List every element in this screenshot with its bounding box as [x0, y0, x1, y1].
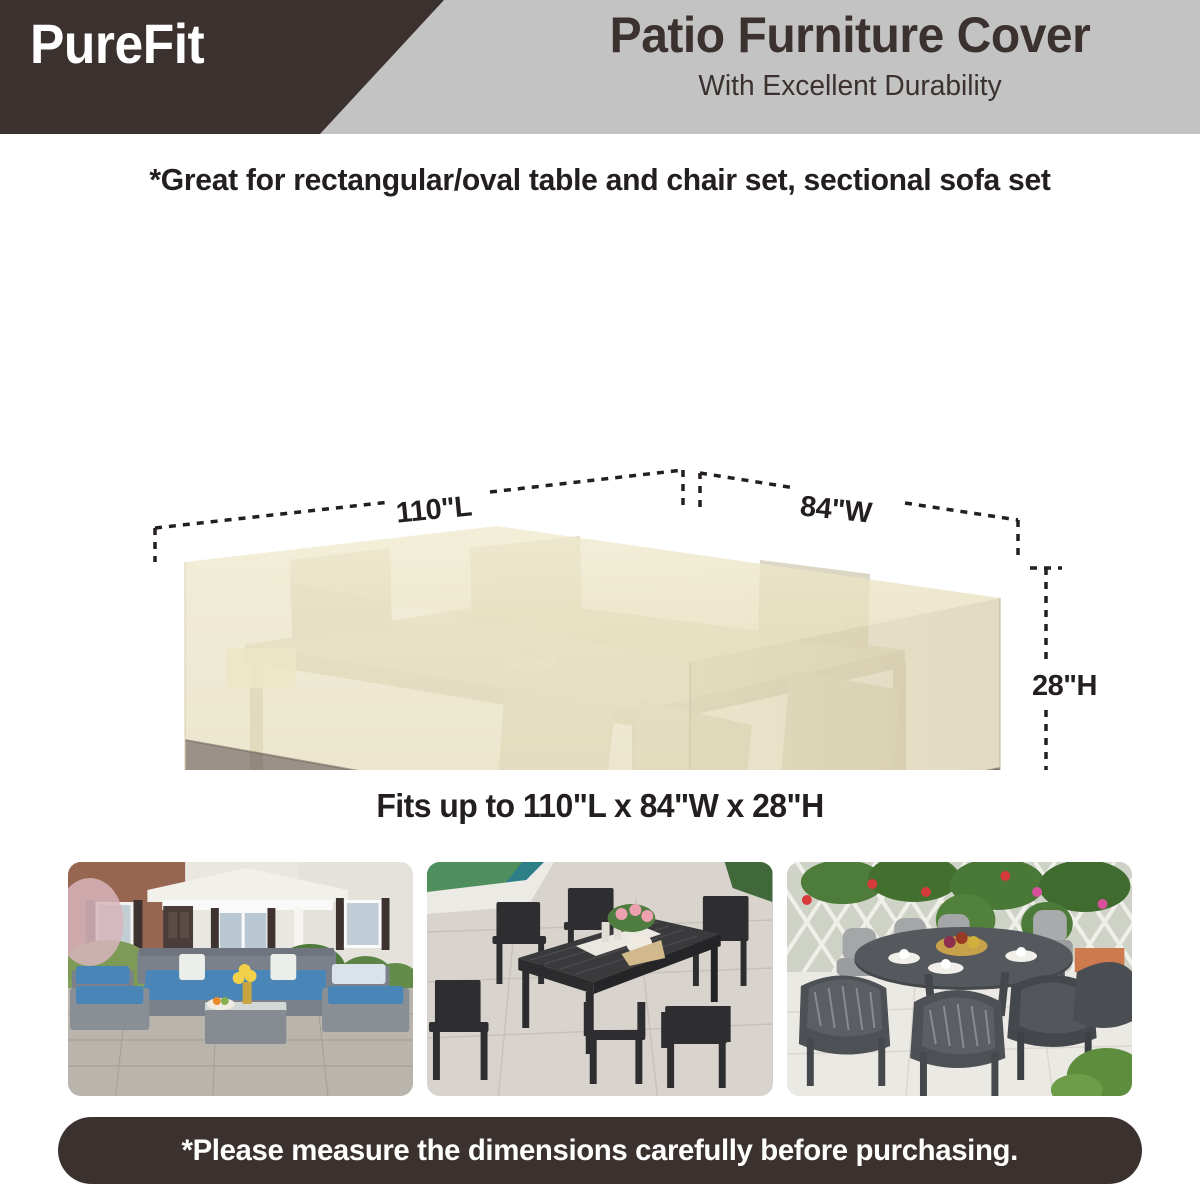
photo-strip: [68, 862, 1132, 1096]
dimension-label-height: 28"H: [1032, 670, 1097, 703]
page-subtitle: With Excellent Durability: [520, 68, 1180, 106]
photo-oval-dining-set: [787, 862, 1132, 1096]
product-infographic: PureFit Patio Furniture Cover With Excel…: [0, 0, 1200, 1200]
photo-sectional-sofa: [68, 862, 413, 1096]
cover-illustration: [0, 230, 1200, 770]
measure-warning-banner: *Please measure the dimensions carefully…: [58, 1117, 1142, 1184]
header-title-block: Patio Furniture Cover With Excellent Dur…: [510, 8, 1190, 106]
tagline-text: *Great for rectangular/oval table and ch…: [18, 162, 1182, 198]
page-title: Patio Furniture Cover: [524, 8, 1177, 62]
photo-rect-dining-set: [427, 862, 772, 1096]
fits-up-to-text: Fits up to 110"L x 84"W x 28"H: [18, 787, 1182, 825]
header-banner: PureFit Patio Furniture Cover With Excel…: [0, 0, 1200, 134]
brand-logo: PureFit: [30, 16, 204, 72]
measure-warning-text: *Please measure the dimensions carefully…: [182, 1134, 1018, 1168]
hero-product-image: 110"L 84"W 28"H: [0, 230, 1200, 770]
